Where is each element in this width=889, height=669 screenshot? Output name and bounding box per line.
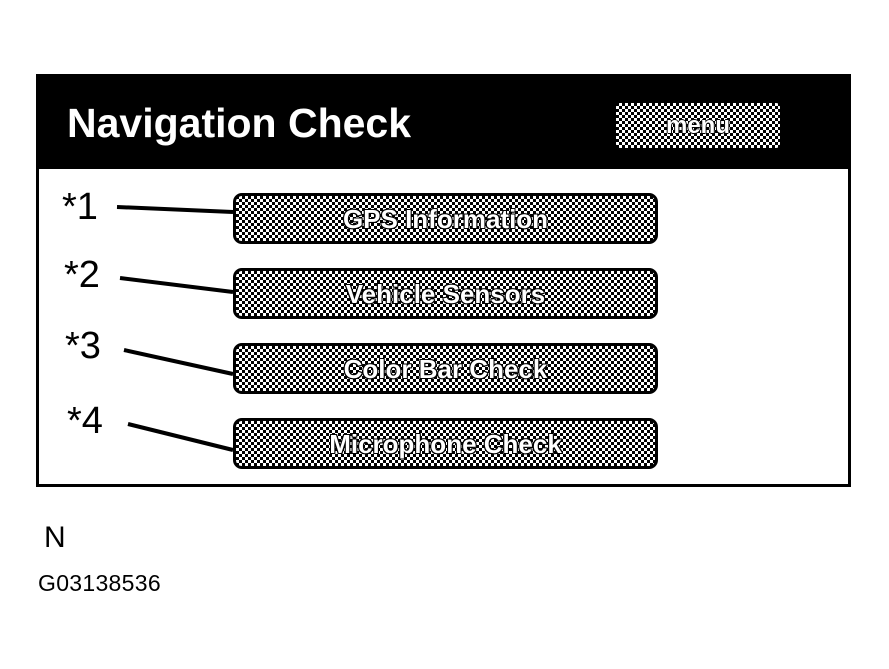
navigation-check-screen: Navigation Check menu GPS Information Ve…	[36, 74, 851, 487]
menu-item-vehicle-sensors[interactable]: Vehicle Sensors	[233, 268, 658, 319]
menu-item-label: GPS Information	[343, 206, 548, 232]
figure-code: G03138536	[38, 570, 161, 596]
menu-item-list: GPS Information Vehicle Sensors Color Ba…	[39, 77, 848, 484]
menu-item-label: Color Bar Check	[344, 356, 548, 382]
menu-item-label: Microphone Check	[329, 431, 562, 457]
caption-direction-marker: N	[44, 521, 66, 555]
menu-item-microphone-check[interactable]: Microphone Check	[233, 418, 658, 469]
menu-item-color-bar-check[interactable]: Color Bar Check	[233, 343, 658, 394]
menu-item-gps-information[interactable]: GPS Information	[233, 193, 658, 244]
menu-item-label: Vehicle Sensors	[346, 281, 545, 307]
